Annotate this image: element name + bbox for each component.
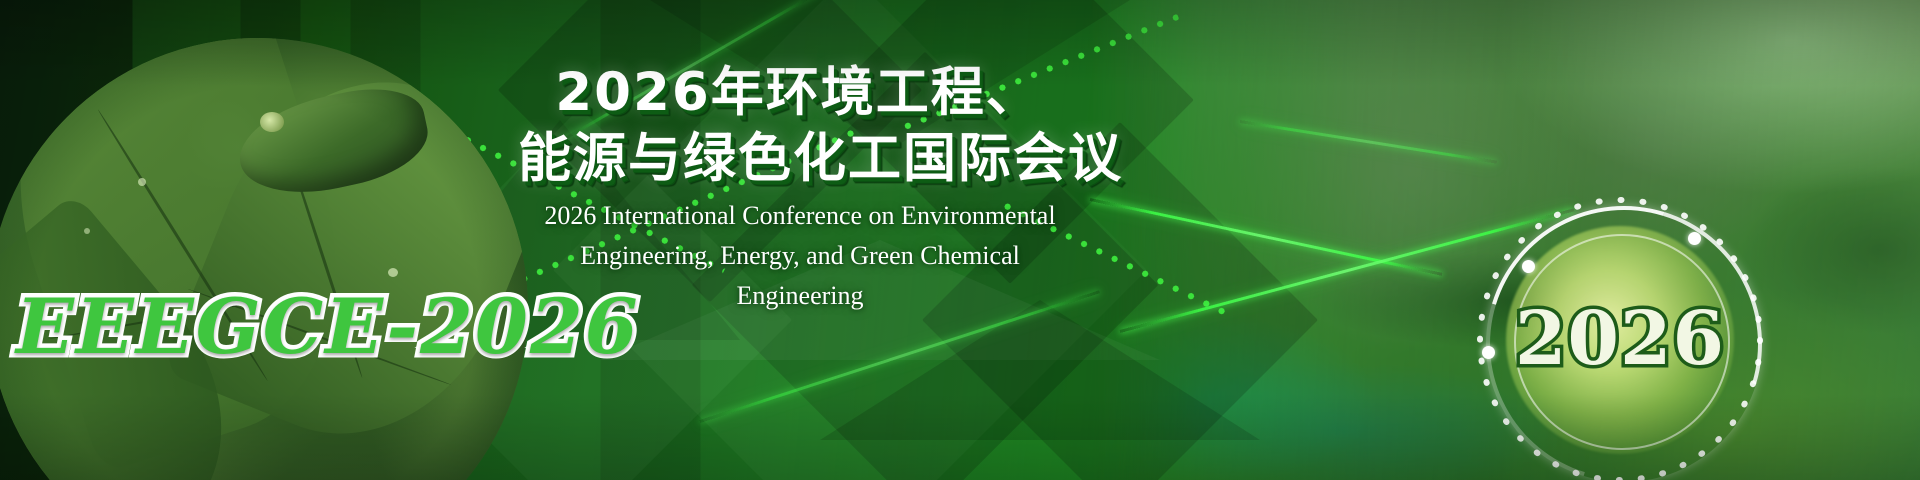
title-english-line-3: Engineering <box>520 276 1080 316</box>
title-chinese-line-1: 2026年环境工程、 <box>518 62 1078 124</box>
title-english-line-1: 2026 International Conference on Environ… <box>520 196 1080 236</box>
title-chinese-line-2: 能源与绿色化工国际会议 <box>518 128 1078 190</box>
badge-node-3 <box>1688 232 1701 245</box>
logo-wordmark: EEEGCE-2026 <box>16 282 556 371</box>
badge-year-label: 2026 <box>1470 296 1770 382</box>
conference-banner: EEEGCE-2026 2026年环境工程、 能源与绿色化工国际会议 2026 … <box>0 0 1920 480</box>
conference-title-chinese: 2026年环境工程、 能源与绿色化工国际会议 <box>518 62 1078 190</box>
badge-node-2 <box>1522 260 1535 273</box>
conference-title-english: 2026 International Conference on Environ… <box>520 196 1080 316</box>
year-badge: 2026 <box>1470 190 1770 480</box>
leaf-photo-circle <box>0 38 528 480</box>
title-english-line-2: Engineering, Energy, and Green Chemical <box>520 236 1080 276</box>
